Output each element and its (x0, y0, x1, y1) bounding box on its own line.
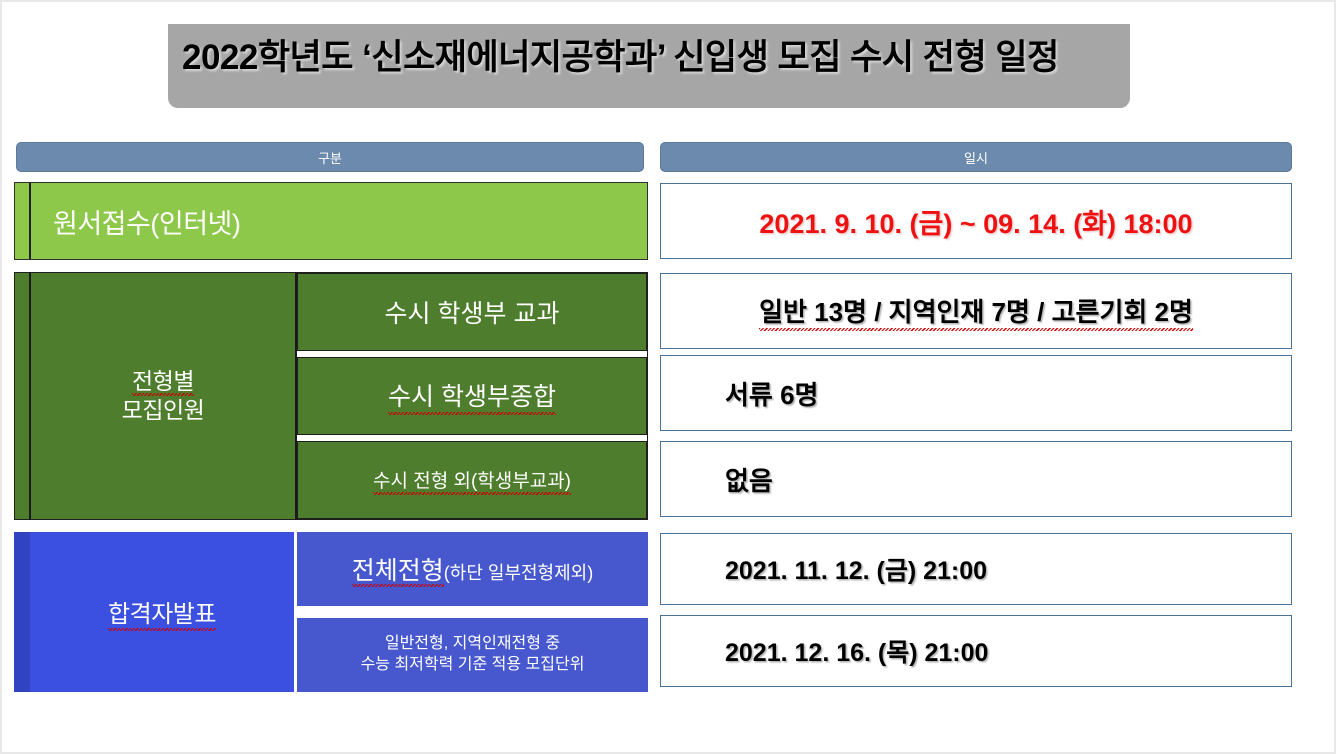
quota-label-line1: 전형별 (132, 368, 194, 396)
quota-value-2-text: 서류 6명 (725, 375, 818, 412)
row-application-value: 2021. 9. 10. (금) ~ 09. 14. (화) 18:00 (660, 183, 1292, 259)
column-header-datetime: 일시 (660, 142, 1292, 172)
result-subrow-2: 일반전형, 지역인재전형 중 수능 최저학력 기준 적용 모집단위 (297, 618, 648, 692)
result-subrow-2-line1: 일반전형, 지역인재전형 중 (385, 635, 560, 652)
column-header-category: 구분 (16, 142, 644, 172)
application-label: 원서접수(인터넷) (53, 202, 240, 241)
quota-subrow-2-label: 수시 학생부종합 (388, 377, 556, 415)
quota-label-line2: 모집인원 (122, 397, 205, 423)
quota-value-3-text: 없음 (725, 461, 773, 498)
result-label-cell: 합격자발표 (30, 532, 294, 692)
row-result-category: 합격자발표 전체전형(하단 일부전형제외) 일반전형, 지역인재전형 중 수능 … (14, 532, 648, 692)
column-header-datetime-label: 일시 (964, 148, 988, 167)
row-result-value-1: 2021. 11. 12. (금) 21:00 (660, 533, 1292, 605)
quota-subrow-1-label: 수시 학생부 교과 (385, 294, 560, 330)
title-banner: 2022학년도 ‘신소재에너지공학과’ 신입생 모집 수시 전형 일정 (168, 24, 1130, 108)
accent-bar (14, 532, 30, 692)
result-subrow-1: 전체전형(하단 일부전형제외) (297, 532, 648, 606)
quota-subrow-list: 수시 학생부 교과 수시 학생부종합 수시 전형 외(학생부교과) (297, 273, 647, 519)
column-header-category-label: 구분 (318, 148, 342, 167)
quota-subrow-1: 수시 학생부 교과 (297, 273, 647, 351)
result-subrow-1-main: 전체전형 (352, 557, 444, 587)
quota-subrow-2: 수시 학생부종합 (297, 357, 647, 435)
quota-label: 전형별 모집인원 (122, 367, 205, 425)
result-subrow-list: 전체전형(하단 일부전형제외) 일반전형, 지역인재전형 중 수능 최저학력 기… (297, 532, 648, 692)
accent-bar (15, 273, 29, 519)
result-value-1-text: 2021. 11. 12. (금) 21:00 (725, 551, 987, 587)
quota-label-cell: 전형별 모집인원 (31, 273, 297, 519)
row-quota-category: 전형별 모집인원 수시 학생부 교과 수시 학생부종합 수시 전형 외(학생부교… (14, 272, 648, 520)
result-value-2-text: 2021. 12. 16. (목) 21:00 (725, 633, 988, 669)
row-quota-value-2: 서류 6명 (660, 355, 1292, 431)
application-date-text: 2021. 9. 10. (금) ~ 09. 14. (화) 18:00 (759, 202, 1192, 241)
row-quota-value-3: 없음 (660, 441, 1292, 517)
quota-subrow-3-label: 수시 전형 외(학생부교과) (373, 466, 571, 495)
quota-value-1-text: 일반 13명 / 지역인재 7명 / 고른기회 2명 (759, 292, 1193, 331)
row-quota-value-1: 일반 13명 / 지역인재 7명 / 고른기회 2명 (660, 273, 1292, 349)
quota-subrow-3: 수시 전형 외(학생부교과) (297, 441, 647, 519)
result-subrow-1-note: (하단 일부전형제외) (444, 563, 593, 583)
row-application-category: 원서접수(인터넷) (14, 182, 648, 260)
result-label: 합격자발표 (108, 594, 216, 631)
row-result-value-2: 2021. 12. 16. (목) 21:00 (660, 615, 1292, 687)
slide-page: 2022학년도 ‘신소재에너지공학과’ 신입생 모집 수시 전형 일정 구분 일… (0, 0, 1336, 754)
application-label-cell: 원서접수(인터넷) (31, 183, 647, 259)
accent-bar (15, 183, 29, 259)
page-title: 2022학년도 ‘신소재에너지공학과’ 신입생 모집 수시 전형 일정 (182, 36, 1059, 80)
result-subrow-2-line2: 수능 최저학력 기준 적용 모집단위 (361, 656, 585, 673)
